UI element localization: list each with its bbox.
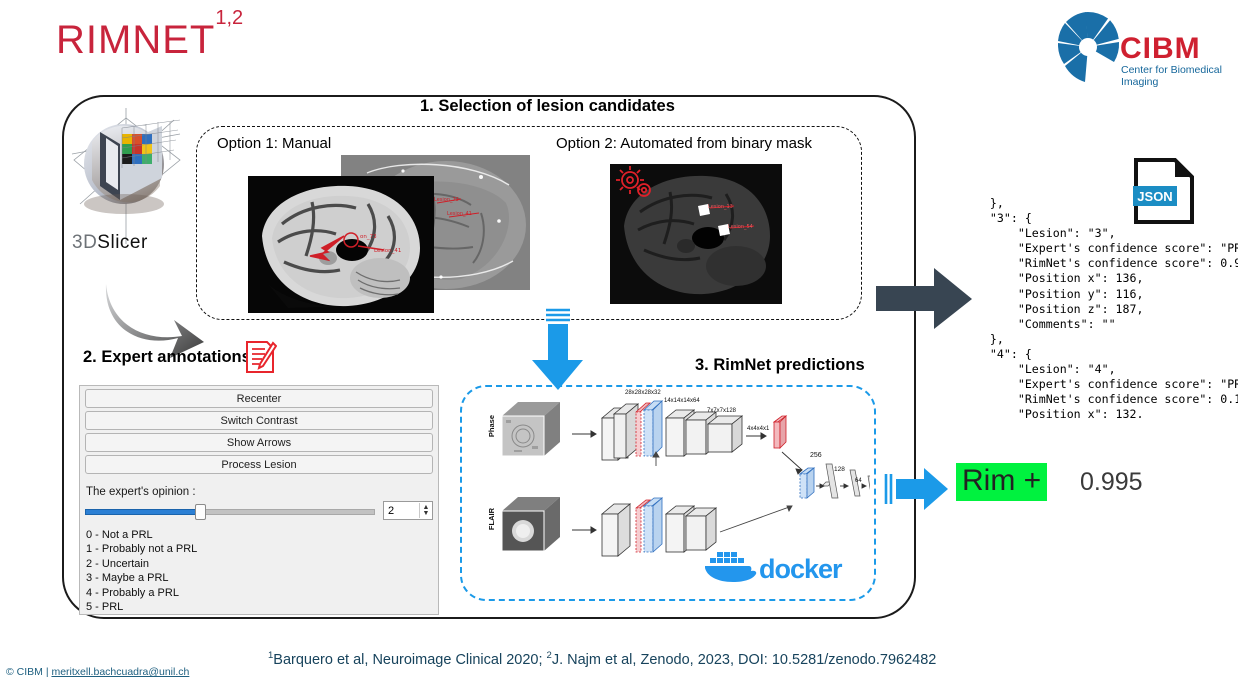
mri-flair-image: on_73 Lesion_41	[248, 176, 434, 313]
docker-wordmark: docker	[759, 554, 842, 585]
step2-heading: 2. Expert annotations	[83, 348, 251, 367]
ref1-text: Barquero et al, Neuroimage Clinical 2020…	[273, 652, 546, 668]
fc-label-64: 64	[855, 478, 862, 484]
scale-item: 1 - Probably not a PRL	[86, 542, 438, 556]
conv-label-1: 28x28x28x32	[625, 390, 661, 396]
fc-label-128: 128	[834, 466, 845, 473]
svg-text:Lesion_41: Lesion_41	[374, 248, 401, 254]
mri-automated-image: Lesion_13 Lesion_54	[610, 164, 782, 304]
flair-label: FLAIR	[487, 508, 496, 530]
opinion-value-stepper[interactable]: 2 ▲▼	[383, 501, 433, 520]
arrow-to-step3-icon	[528, 308, 586, 392]
3d-slicer-label: 3DSlicer	[72, 232, 148, 254]
opinion-label: The expert's opinion :	[86, 486, 438, 498]
opinion-scale-legend: 0 - Not a PRL 1 - Probably not a PRL 2 -…	[86, 528, 438, 614]
option1-label: Option 1: Manual	[217, 135, 331, 152]
step1-heading: 1. Selection of lesion candidates	[420, 97, 675, 116]
docker-whale-icon	[703, 548, 757, 592]
ref2-text: J. Najm et al, Zenodo, 2023, DOI: 10.528…	[552, 652, 937, 668]
scale-item: 3 - Maybe a PRL	[86, 571, 438, 585]
svg-text:Lesion_13: Lesion_13	[708, 204, 733, 210]
scale-item: 5 - PRL	[86, 600, 438, 614]
rim-confidence-score: 0.995	[1080, 468, 1143, 497]
page-title: RIMNET1,2	[56, 18, 243, 63]
arrow-to-json-icon	[876, 268, 974, 330]
process-lesion-button[interactable]: Process Lesion	[85, 455, 433, 474]
stepper-arrows-icon[interactable]: ▲▼	[419, 503, 432, 518]
title-superscript: 1,2	[215, 7, 243, 29]
cnn-architecture-diagram	[570, 390, 870, 570]
copyright-text: © CIBM |	[6, 666, 51, 678]
opinion-slider-row[interactable]: 2 ▲▼	[85, 501, 433, 520]
json-output-text: }, "3": { "Lesion": "3", "Expert's confi…	[962, 196, 1238, 418]
svg-text:Lesion_73: Lesion_73	[434, 197, 459, 203]
contact-email-link[interactable]: meritxell.bachcuadra@unil.ch	[51, 666, 189, 678]
fc-label-256: 256	[810, 452, 822, 459]
cibm-tagline: Center for Biomedical Imaging	[1121, 64, 1228, 88]
recenter-button[interactable]: Recenter	[85, 389, 433, 408]
citation-line: 1Barquero et al, Neuroimage Clinical 202…	[268, 650, 936, 668]
opinion-value: 2	[384, 505, 419, 517]
option2-label: Option 2: Automated from binary mask	[556, 135, 812, 152]
slider-fill	[85, 509, 203, 515]
footer-credit: © CIBM | meritxell.bachcuadra@unil.ch	[6, 666, 189, 678]
conv-label-2: 14x14x14x64	[664, 398, 700, 404]
cibm-wordmark: CIBM	[1120, 32, 1201, 66]
cibm-fan-icon	[1058, 10, 1120, 84]
opinion-slider[interactable]	[85, 504, 375, 518]
arrow-to-prediction-icon	[884, 466, 950, 512]
3d-slicer-icon	[62, 108, 192, 248]
conv-label-3: 7x7x7x128	[707, 408, 736, 414]
conv-label-4: 4x4x4x1	[747, 426, 769, 432]
document-pencil-icon	[243, 340, 277, 374]
phase-input-cube	[500, 400, 562, 458]
show-arrows-button[interactable]: Show Arrows	[85, 433, 433, 452]
rim-positive-badge: Rim +	[956, 463, 1047, 501]
scale-item: 0 - Not a PRL	[86, 528, 438, 542]
scale-item: 2 - Uncertain	[86, 557, 438, 571]
cibm-logo: CIBM Center for Biomedical Imaging	[1058, 8, 1228, 88]
expert-annotation-panel[interactable]: Recenter Switch Contrast Show Arrows Pro…	[79, 385, 439, 615]
flair-input-cube	[500, 495, 562, 553]
slider-handle[interactable]	[195, 504, 206, 520]
switch-contrast-button[interactable]: Switch Contrast	[85, 411, 433, 430]
svg-text:Lesion_41: Lesion_41	[447, 211, 472, 217]
docker-logo: docker	[703, 548, 873, 596]
scale-item: 4 - Probably a PRL	[86, 586, 438, 600]
svg-text:Lesion_54: Lesion_54	[728, 224, 753, 230]
phase-label: Phase	[487, 415, 496, 437]
step3-heading: 3. RimNet predictions	[695, 356, 865, 375]
svg-text:on_73: on_73	[360, 234, 377, 240]
